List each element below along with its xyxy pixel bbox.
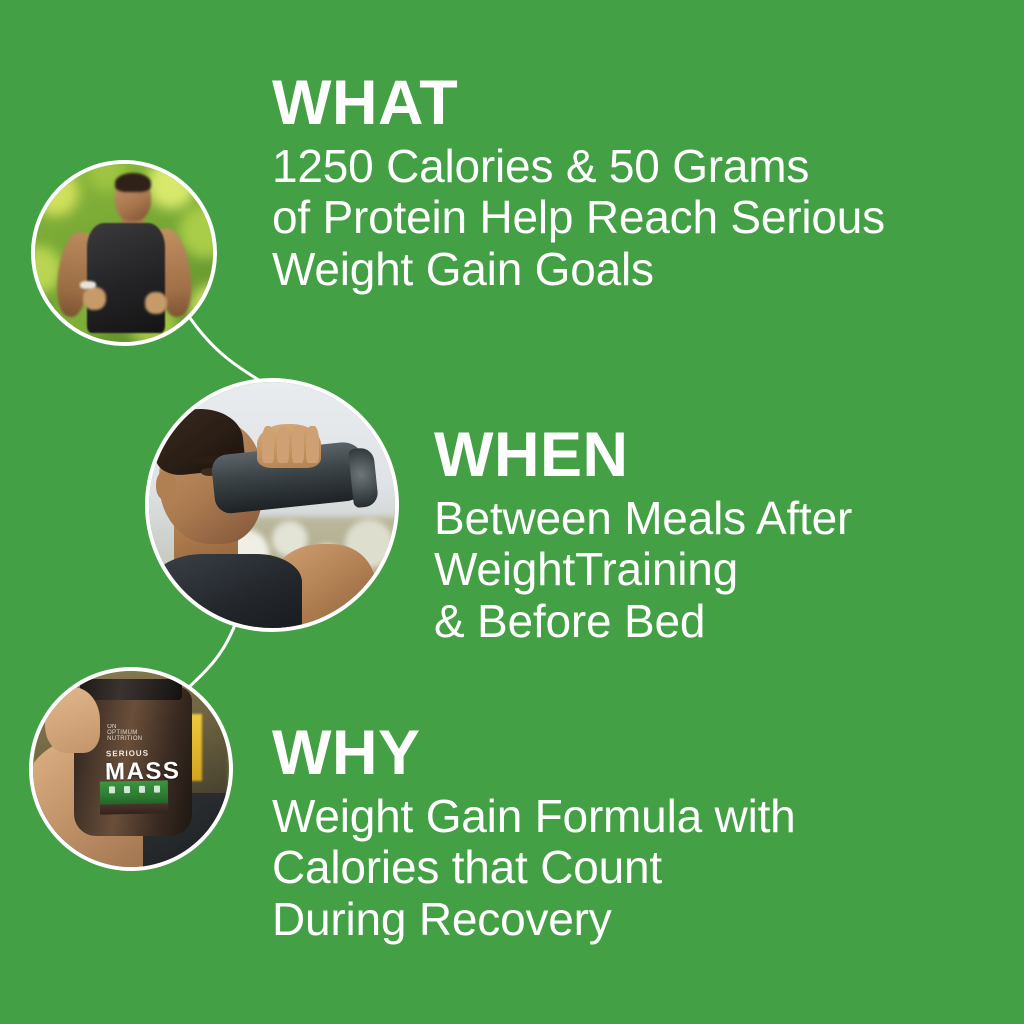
runner-right-hand — [145, 292, 166, 313]
drinker-finger — [292, 426, 304, 463]
heading-why: WHY — [272, 722, 892, 785]
heading-when: WHEN — [434, 424, 994, 487]
runner-wristband — [80, 281, 96, 288]
body-why: Weight Gain Formula with Calories that C… — [272, 791, 892, 945]
runner-tank-top — [87, 223, 165, 333]
tub-lid — [80, 679, 182, 701]
text-block-why: WHY Weight Gain Formula with Calories th… — [272, 722, 892, 945]
body-line: Calories that Count — [272, 842, 892, 893]
body-line: WeightTraining — [434, 544, 994, 595]
photo-circle-runner — [35, 164, 213, 342]
body-when: Between Meals After WeightTraining & Bef… — [434, 493, 994, 647]
body-line: Weight Gain Formula with — [272, 791, 892, 842]
benefit-icon — [123, 787, 129, 794]
body-line: Between Meals After — [434, 493, 994, 544]
photo-circle-drinking — [149, 382, 395, 628]
holder-hand — [45, 687, 100, 754]
product-benefit-icons — [103, 783, 164, 797]
text-block-what: WHAT 1250 Calories & 50 Grams of Protein… — [272, 72, 972, 295]
photo-circle-product: ON OPTIMUM NUTRITION SERIOUS MASS — [33, 671, 229, 867]
body-line: During Recovery — [272, 894, 892, 945]
body-line: Weight Gain Goals — [272, 244, 972, 295]
drinker-finger — [262, 426, 274, 463]
body-line: of Protein Help Reach Serious — [272, 192, 972, 243]
drinking-scene — [149, 382, 395, 628]
text-block-when: WHEN Between Meals After WeightTraining … — [434, 424, 994, 647]
body-what: 1250 Calories & 50 Grams of Protein Help… — [272, 141, 972, 295]
benefit-icon — [139, 786, 145, 793]
body-line: 1250 Calories & 50 Grams — [272, 141, 972, 192]
benefit-icon — [154, 786, 160, 793]
runner-hair — [115, 173, 151, 193]
infographic-poster: ON OPTIMUM NUTRITION SERIOUS MASS WHAT 1… — [0, 0, 1024, 1024]
drinker-training-top — [149, 554, 302, 628]
drinker-finger — [306, 426, 318, 463]
product-flavour-band — [100, 804, 168, 816]
heading-what: WHAT — [272, 72, 972, 135]
drinker-finger — [277, 426, 289, 463]
runner-left-hand — [83, 287, 106, 310]
product-scene: ON OPTIMUM NUTRITION SERIOUS MASS — [33, 671, 229, 867]
benefit-icon — [108, 787, 114, 794]
drinker-ear — [156, 471, 176, 501]
body-line: & Before Bed — [434, 596, 994, 647]
optimum-nutrition-logo: ON OPTIMUM NUTRITION — [107, 728, 142, 737]
runner-scene — [35, 164, 213, 342]
